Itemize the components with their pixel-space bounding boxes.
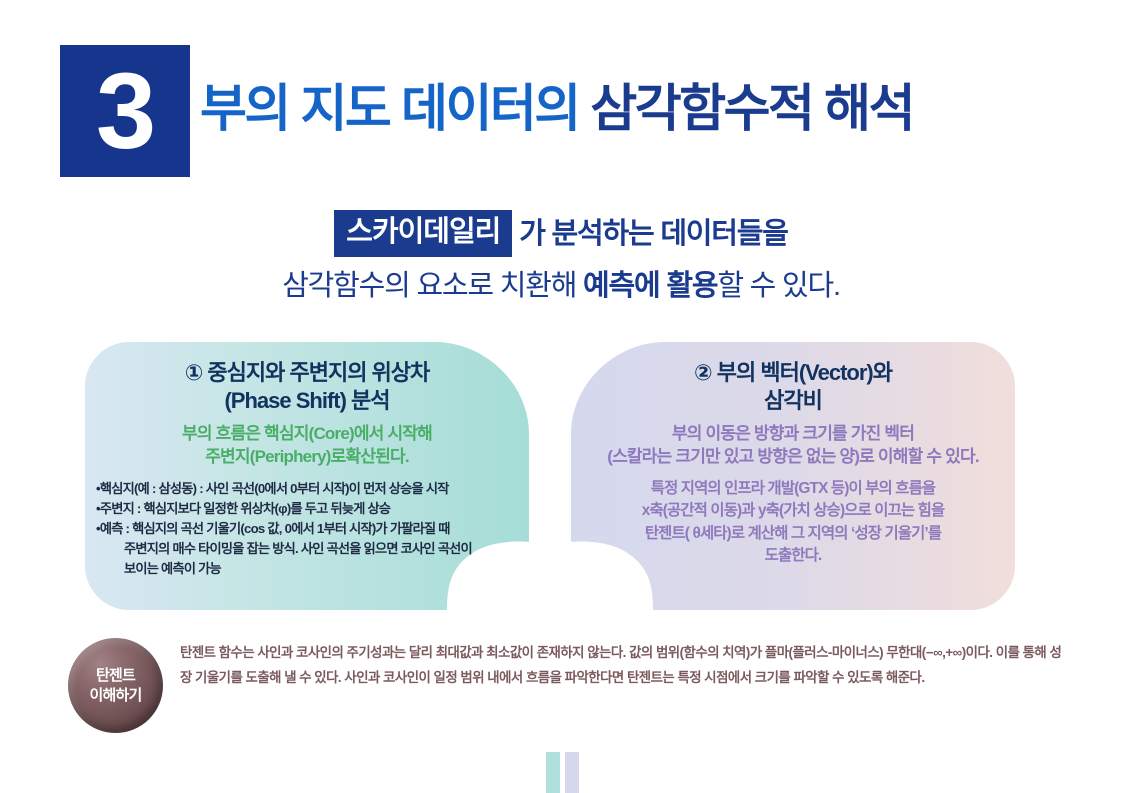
subtitle-line-one-rest: 가 분석하는 데이터들을 xyxy=(512,218,787,250)
card-right-body: 특정 지역의 인프라 개발(GTX 등)이 부의 흐름을 x축(공간적 이동)과… xyxy=(571,478,1015,568)
card-left-content: ① 중심지와 주변지의 위상차 (Phase Shift) 분석 부의 흐름은 … xyxy=(85,342,529,579)
subtitle-line-two: 삼각함수의 요소로 치환해 예측에 활용할 수 있다. xyxy=(0,267,1122,306)
list-item: •핵심지(예 : 삼성동) : 사인 곡선(0에서 0부터 시작)이 먼저 상승… xyxy=(96,479,520,499)
section-number-badge: 3 xyxy=(60,45,190,177)
subtitle-line-two-b: 할 수 있다. xyxy=(717,270,840,302)
card-right-subtitle: 부의 이동은 방향과 크기를 가진 벡터 (스칼라는 크기만 있고 방향은 없는… xyxy=(571,423,1015,468)
list-item: •예측 : 핵심지의 곡선 기울기(cos 값, 0에서 1부터 시작)가 가팔… xyxy=(96,519,520,539)
tangent-badge: 탄젠트 이해하기 xyxy=(68,638,163,733)
page-header: 3 부의 지도 데이터의 삼각함수적 해석 xyxy=(60,45,1060,177)
list-item-continuation: 주변지의 매수 타이밍을 잡는 방식. 사인 곡선을 읽으면 코사인 곡선이 보… xyxy=(96,539,520,579)
card-right-heading: ② 부의 벡터(Vector)와 삼각비 xyxy=(571,342,1015,414)
card-right-content: ② 부의 벡터(Vector)와 삼각비 부의 이동은 방향과 크기를 가진 벡… xyxy=(571,342,1015,568)
subtitle-line-two-a: 삼각함수의 요소로 치환해 xyxy=(282,270,583,302)
tangent-note-text: 탄젠트 함수는 사인과 코사인의 주기성과는 달리 최대값과 최소값이 존재하지… xyxy=(180,640,1068,690)
card-left-bullet-list: •핵심지(예 : 삼성동) : 사인 곡선(0에서 0부터 시작)이 먼저 상승… xyxy=(85,479,529,579)
card-phase-shift: ① 중심지와 주변지의 위상차 (Phase Shift) 분석 부의 흐름은 … xyxy=(85,342,529,610)
page-title-part-one: 부의 지도 데이터의 xyxy=(200,80,590,137)
card-wealth-vector: ② 부의 벡터(Vector)와 삼각비 부의 이동은 방향과 크기를 가진 벡… xyxy=(571,342,1015,610)
page-title-part-two: 삼각함수적 해석 xyxy=(590,80,913,137)
subtitle-line-two-highlight: 예측에 활용 xyxy=(583,270,717,302)
brand-name-badge: 스카이데일리 xyxy=(334,210,512,257)
subtitle-block: 스카이데일리 가 분석하는 데이터들을 삼각함수의 요소로 치환해 예측에 활용… xyxy=(0,212,1122,306)
subtitle-line-one: 스카이데일리 가 분석하는 데이터들을 xyxy=(0,212,1122,259)
card-left-heading: ① 중심지와 주변지의 위상차 (Phase Shift) 분석 xyxy=(85,342,529,414)
tangent-badge-line-two: 이해하기 xyxy=(89,686,141,705)
list-item: •주변지 : 핵심지보다 일정한 위상차(φ)를 두고 뒤늦게 상승 xyxy=(96,499,520,519)
footer-bar-lavender xyxy=(565,752,579,793)
footer-bar-mint xyxy=(546,752,560,793)
tangent-badge-line-one: 탄젠트 xyxy=(96,666,135,685)
card-left-subtitle: 부의 흐름은 핵심지(Core)에서 시작해 주변지(Periphery)로확산… xyxy=(85,423,529,468)
tangent-note-block: 탄젠트 이해하기 탄젠트 함수는 사인과 코사인의 주기성과는 달리 최대값과 … xyxy=(62,636,1072,738)
footer-decoration xyxy=(546,752,582,793)
page-title: 부의 지도 데이터의 삼각함수적 해석 xyxy=(200,83,913,134)
